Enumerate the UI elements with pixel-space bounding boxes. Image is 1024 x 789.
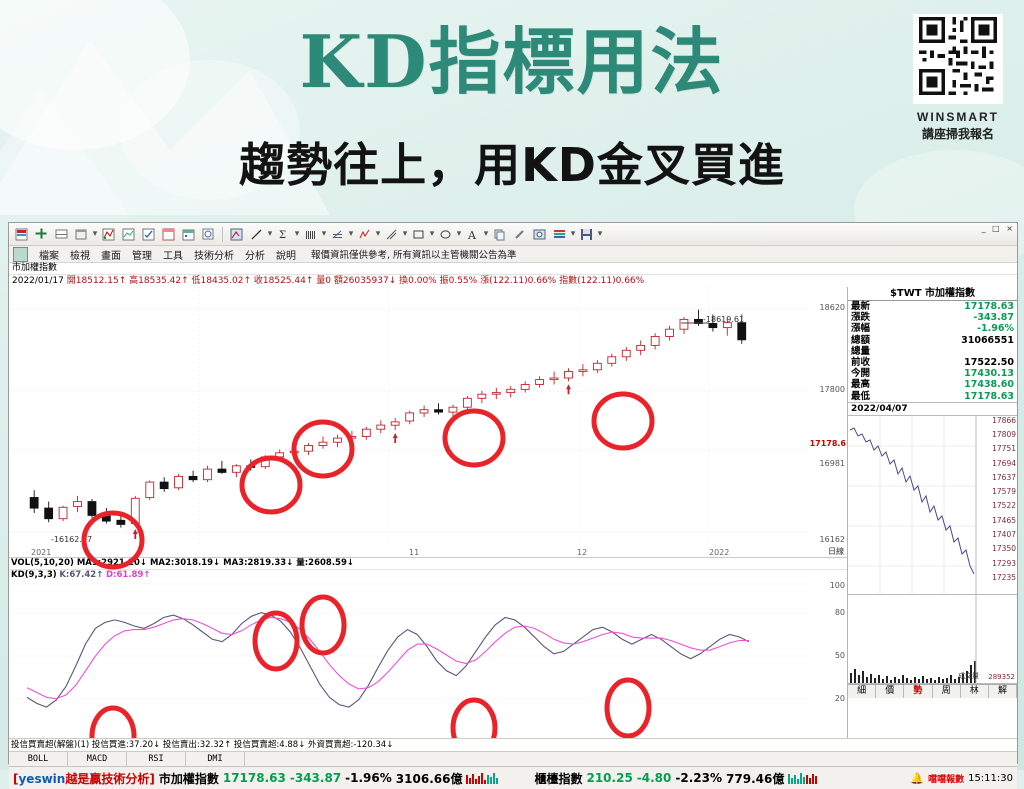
quote-row-value: 17178.63 (964, 301, 1014, 312)
app-body: -18619.61 -16162.17 18620 17800 17178.6 … (9, 287, 1017, 738)
indicator-tab-dmi[interactable]: DMI (186, 752, 245, 766)
price-tick-1: 17800 (820, 385, 845, 394)
quote-date: 2022/01/17 (12, 276, 64, 286)
dropdown-arrow-icon-12[interactable]: ▾ (597, 229, 603, 239)
intraday-tick: 17694 (992, 459, 1016, 468)
dropdown-arrow-icon[interactable]: ▾ (92, 229, 98, 239)
snapshot-icon[interactable] (530, 225, 549, 244)
price-current-marker: 17178.6 (810, 439, 846, 448)
volume-tag-label: 成交量 (958, 671, 979, 681)
status-clock: 15:11:30 (968, 773, 1013, 784)
quote-row-label: 漲幅 (851, 323, 870, 334)
quote-tab-周[interactable]: 周 (933, 685, 961, 698)
menu-item-file[interactable]: 檔案 (39, 247, 59, 262)
toolbar-separator (222, 227, 223, 242)
x-tick-1: 11 (409, 548, 419, 557)
menu-item-manage[interactable]: 管理 (132, 247, 152, 262)
add-icon[interactable] (32, 225, 51, 244)
status-index1-last: 17178.63 (223, 771, 286, 785)
line-chart-icon[interactable] (119, 225, 138, 244)
quote-row: 今開 17430.13 (848, 368, 1017, 379)
intraday-tick: 17465 (992, 516, 1016, 525)
quote-line: 2022/01/17 開18512.15↑ 高18535.42↑ 低18435.… (9, 275, 1017, 287)
quote-volume-label: 量 (316, 276, 325, 286)
intraday-volume-plot (848, 595, 1017, 683)
intraday-tick: 17522 (992, 501, 1016, 510)
period-label: 日線 (828, 546, 844, 557)
intraday-tick: 17637 (992, 473, 1016, 482)
status-index1-change: -343.87 (290, 771, 341, 785)
price-tick-3: 16162 (820, 535, 845, 544)
menu-bar: 檔案 檢視 畫面 管理 工具 技術分析 分析 說明 報價資訊僅供參考, 所有資訊… (9, 246, 1017, 263)
quote-high-label: 高 (129, 276, 138, 286)
text-icon[interactable]: A (463, 225, 482, 244)
menu-item-analysis[interactable]: 分析 (245, 247, 265, 262)
intraday-tick: 17751 (992, 444, 1016, 453)
status-index2-name: 櫃檯指數 (534, 770, 582, 787)
quote-turnover: 0.00% (408, 276, 437, 286)
table-icon[interactable] (72, 225, 91, 244)
calendar-icon[interactable] (179, 225, 198, 244)
quote-row-value: 31066551 (961, 335, 1014, 346)
copy-icon[interactable] (490, 225, 509, 244)
x-tick-0: 2021 (31, 548, 51, 557)
quote-volume: 0 (325, 276, 331, 286)
status-index2-change: -4.80 (637, 771, 672, 785)
quote-index: (122.11)0.66% (577, 276, 644, 286)
qr-block: WINSMART 講座掃我報名 (906, 14, 1010, 142)
qr-code-icon (913, 14, 1003, 104)
quote-panel-title: $TWT 市加權指數 (848, 287, 1017, 301)
price-y-axis: 18620 17800 17178.6 16981 16162 (809, 287, 847, 557)
quote-row-label: 前收 (851, 357, 870, 368)
quote-change: (122.11)0.66% (489, 276, 556, 286)
quote-row-label: 今開 (851, 368, 870, 379)
quote-row-label: 漲跌 (851, 312, 870, 323)
price-chart-panel[interactable]: -18619.61 -16162.17 18620 17800 17178.6 … (9, 287, 847, 558)
status-index1-name: 市加權指數 (159, 770, 219, 787)
x-tick-2: 12 (577, 548, 587, 557)
quote-row: 總量 (848, 346, 1017, 357)
status-index1-amount: 3106.66億 (396, 770, 463, 787)
quote-tab-勢[interactable]: 勢 (904, 685, 932, 698)
fork-icon[interactable] (382, 225, 401, 244)
x-tick-3: 2022 (709, 548, 729, 557)
quote-row-value: 17178.63 (964, 391, 1014, 402)
quote-row: 漲跌 -343.87 (848, 312, 1017, 323)
quote-amount: 26035937 (343, 276, 389, 286)
indicator-tab-macd[interactable]: MACD (68, 752, 127, 766)
bell-icon[interactable]: 🔔 (910, 772, 924, 785)
dropdown-arrow-icon-5[interactable]: ▾ (348, 229, 354, 239)
quote-high: 18535.42 (138, 276, 181, 286)
quote-panel-tabs[interactable]: 細價勢周林解 (848, 684, 1017, 698)
index2-sparkline (788, 772, 817, 784)
quote-low: 18435.02 (201, 276, 244, 286)
dropdown-arrow-icon-7[interactable]: ▾ (402, 229, 408, 239)
dropdown-arrow-icon-3[interactable]: ▾ (294, 229, 300, 239)
quote-row-value: -1.96% (977, 323, 1014, 334)
charts-area: -18619.61 -16162.17 18620 17800 17178.6 … (9, 287, 848, 738)
quote-row-label: 最新 (851, 301, 870, 312)
menu-item-technical[interactable]: 技術分析 (194, 247, 234, 262)
intraday-tick: 17809 (992, 430, 1016, 439)
status-badge: 噹噹報數 (928, 772, 964, 785)
trendline-icon[interactable] (247, 225, 266, 244)
app-icon[interactable] (13, 247, 28, 262)
toolbar: ▾ ▾ Σ ▾ ▾ ▾ ▾ ▾ ▾ ▾ A ▾ (9, 223, 1017, 246)
fib-icon[interactable] (328, 225, 347, 244)
status-index1-pct: -1.96% (345, 771, 392, 785)
intraday-tick: 17350 (992, 544, 1016, 553)
kd-indicator-name: KD(9,3,3) (11, 570, 57, 580)
page-title: KD指標用法 (0, 26, 1024, 98)
brand-cn: 越是贏技術分析 (65, 772, 149, 786)
quote-row: 總額 31066551 (848, 335, 1017, 346)
quote-open: 18512.15 (76, 276, 119, 286)
svg-text:A: A (467, 229, 477, 241)
quote-row-value: 17438.60 (964, 379, 1014, 390)
price-tick-2: 16981 (820, 459, 845, 468)
kd-tick-2: 50 (835, 651, 845, 660)
kd-indicator-line: KD(9,3,3) K:67.42↑ D:61.89↑ (9, 570, 847, 581)
quote-panel: $TWT 市加權指數 最新 17178.63 漲跌 -343.87 漲幅 -1.… (848, 287, 1017, 738)
erase-icon[interactable] (510, 225, 529, 244)
kd-k-value: K:67.42↑ (59, 570, 103, 580)
svg-text:Σ: Σ (279, 230, 286, 241)
quote-row: 最新 17178.63 (848, 301, 1017, 312)
quote-row-value: 17522.50 (964, 357, 1014, 368)
kd-tick-0: 100 (830, 581, 845, 590)
status-index2-last: 210.25 (586, 771, 632, 785)
quote-tab-價[interactable]: 價 (876, 685, 904, 698)
kd-tick-1: 80 (835, 608, 845, 617)
window-controls[interactable]: _ □ × (982, 224, 1015, 233)
quote-amount-label: 額 (334, 276, 343, 286)
dropdown-arrow-icon-4[interactable]: ▾ (321, 229, 327, 239)
price-tick-0: 18620 (820, 303, 845, 312)
brand-label: [yeswin越是贏技術分析] (13, 770, 155, 787)
quote-tab-細[interactable]: 細 (848, 685, 876, 698)
window-icon[interactable] (159, 225, 178, 244)
menu-item-view[interactable]: 檢視 (70, 247, 90, 262)
quote-row-value: -343.87 (973, 312, 1014, 323)
color-chart-icon[interactable] (99, 225, 118, 244)
intraday-volume-chart[interactable]: 289352 成交量 (848, 595, 1017, 684)
layout-icon[interactable] (52, 225, 71, 244)
dropdown-arrow-icon-9[interactable]: ▾ (456, 229, 462, 239)
menu-item-help[interactable]: 說明 (276, 247, 296, 262)
kd-y-axis: 100 80 50 20 (809, 581, 847, 728)
institutional-info-line: 投信買賣超(解盤)(1) 投信買進:37.20↓ 投信賣出:32.32↑ 投信買… (9, 738, 1017, 751)
intraday-chart[interactable]: 1786617809177511769417637175791752217465… (848, 416, 1017, 595)
volume-scale-label: 289352 (988, 673, 1015, 681)
ellipse-icon[interactable] (436, 225, 455, 244)
qr-brand: WINSMART (906, 110, 1010, 124)
quote-panel-date: 2022/04/07 (848, 402, 1017, 416)
slide-page: KD指標用法 趨勢往上，用KD金叉買進 (0, 0, 1024, 770)
quote-close-label: 收 (254, 276, 263, 286)
status-index2-amount: 779.46億 (726, 770, 784, 787)
chart-header-label: 市加權指數 (9, 263, 1017, 275)
kd-tick-3: 20 (835, 694, 845, 703)
kd-d-value: D:61.89↑ (106, 570, 150, 580)
quote-panel-rows: 最新 17178.63 漲跌 -343.87 漲幅 -1.96% 總額 3106… (848, 301, 1017, 402)
new-chart-icon[interactable] (12, 225, 31, 244)
page-subtitle: 趨勢往上，用KD金叉買進 (0, 142, 1024, 188)
price-low-tag: -16162.17 (51, 535, 92, 544)
quote-row: 前收 17522.50 (848, 357, 1017, 368)
quote-row-label: 最高 (851, 379, 870, 390)
quote-row: 最低 17178.63 (848, 391, 1017, 402)
quote-row-value: 17430.13 (964, 368, 1014, 379)
qr-caption: 講座掃我報名 (906, 125, 1010, 142)
kd-plot (9, 581, 809, 728)
quote-close: 18525.44 (263, 276, 306, 286)
intraday-tick: 17235 (992, 573, 1016, 582)
disclaimer-text: 報價資訊僅供參考, 所有資訊以主管機關公告為準 (311, 247, 517, 261)
intraday-tick: 17407 (992, 530, 1016, 539)
quote-row-label: 最低 (851, 391, 870, 402)
quote-turnover-label: 換 (399, 276, 408, 286)
status-index2-pct: -2.23% (675, 771, 722, 785)
brand-en: yeswin (18, 772, 65, 786)
status-bar: [yeswin越是贏技術分析] 市加權指數 17178.63 -343.87 -… (9, 766, 1017, 789)
indicator-tab-rsi[interactable]: RSI (127, 752, 186, 766)
quote-low-label: 低 (192, 276, 201, 286)
wave-icon[interactable] (355, 225, 374, 244)
indicator-tab-row[interactable]: BOLLMACDRSIDMI (9, 751, 1017, 766)
quote-range-label: 振 (440, 276, 449, 286)
draw-icon[interactable] (227, 225, 246, 244)
intraday-tick: 17579 (992, 487, 1016, 496)
sigma-icon[interactable]: Σ (274, 225, 293, 244)
levels-icon[interactable] (550, 225, 569, 244)
quote-index-label: 指數 (559, 276, 577, 286)
quote-row-label: 總額 (851, 335, 870, 346)
intraday-tick: 17293 (992, 559, 1016, 568)
quote-row: 最高 17438.60 (848, 379, 1017, 390)
quote-tab-解[interactable]: 解 (989, 685, 1017, 698)
dropdown-arrow-icon-8[interactable]: ▾ (429, 229, 435, 239)
quote-change-label: 漲 (480, 276, 489, 286)
quote-row: 漲幅 -1.96% (848, 323, 1017, 334)
dropdown-arrow-icon-2[interactable]: ▾ (267, 229, 273, 239)
quote-open-label: 開 (67, 276, 76, 286)
indicator-tab-boll[interactable]: BOLL (9, 752, 68, 766)
intraday-tick: 17866 (992, 416, 1016, 425)
dropdown-arrow-icon-6[interactable]: ▾ (375, 229, 381, 239)
menu-item-tools[interactable]: 工具 (163, 247, 183, 262)
quote-tab-林[interactable]: 林 (961, 685, 989, 698)
menu-item-screen[interactable]: 畫面 (101, 247, 121, 262)
quote-row-label: 總量 (851, 346, 870, 357)
trading-app-window: ▾ ▾ Σ ▾ ▾ ▾ ▾ ▾ ▾ ▾ A ▾ (8, 222, 1018, 764)
kd-chart-panel[interactable]: 100 80 50 20 (9, 581, 847, 728)
candlestick-plot (9, 287, 809, 557)
dropdown-arrow-icon-11[interactable]: ▾ (570, 229, 576, 239)
bars-icon[interactable] (301, 225, 320, 244)
rect-icon[interactable] (409, 225, 428, 244)
quote-range: 0.55% (449, 276, 478, 286)
vol-indicator-text: VOL(5,10,20) MA1:2921.20↓ MA2:3018.19↓ M… (11, 558, 354, 568)
save-icon[interactable] (577, 225, 596, 244)
price-last-tag: -18619.61 (703, 315, 744, 324)
index1-sparkline (466, 772, 498, 784)
price-x-axis: 2021 11 12 2022 日線 (9, 547, 847, 557)
checkbox-icon[interactable] (139, 225, 158, 244)
zoom-icon[interactable] (199, 225, 218, 244)
dropdown-arrow-icon-10[interactable]: ▾ (483, 229, 489, 239)
vol-indicator-line: VOL(5,10,20) MA1:2921.20↓ MA2:3018.19↓ M… (9, 558, 847, 570)
